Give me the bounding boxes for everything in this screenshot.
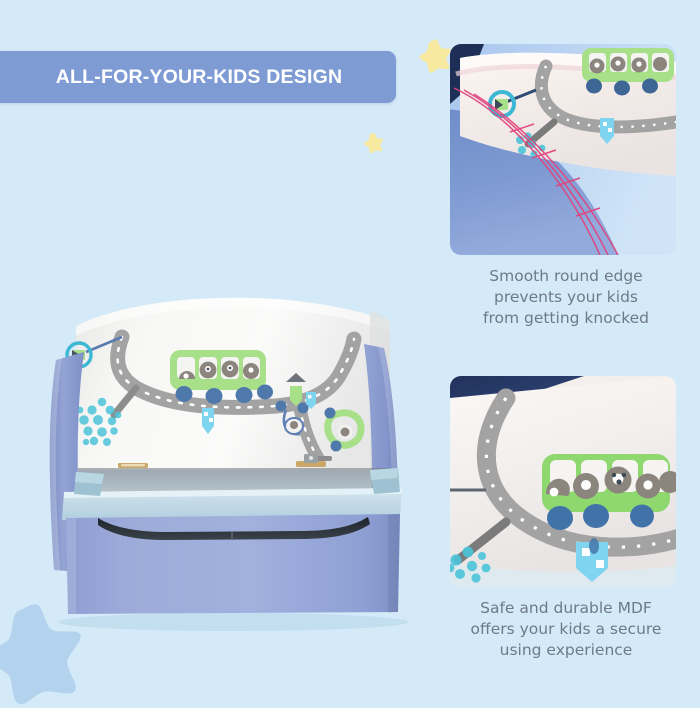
detail-card-smooth-round-edge: Smooth round edge prevents your kids fro… — [450, 44, 682, 329]
detail-caption-smooth-round-edge: Smooth round edge prevents your kids fro… — [450, 266, 682, 329]
caption-line: from getting knocked — [450, 308, 682, 329]
product-photo-toy-box-bench — [18, 240, 438, 640]
star-decoration-mid-right — [363, 132, 385, 154]
caption-line: using experience — [450, 640, 682, 661]
detail-card-safe-durable-mdf: Safe and durable MDF offers your kids a … — [450, 376, 682, 661]
star-decoration-top-right — [418, 38, 454, 74]
detail-photo-safe-durable-mdf — [450, 376, 676, 587]
caption-line: offers your kids a secure — [450, 619, 682, 640]
caption-line: Smooth round edge — [450, 266, 682, 287]
caption-line: Safe and durable MDF — [450, 598, 682, 619]
headline-text: ALL-FOR-YOUR-KIDS DESIGN — [40, 66, 342, 89]
detail-photo-smooth-round-edge — [450, 44, 676, 255]
detail-caption-safe-durable-mdf: Safe and durable MDF offers your kids a … — [450, 598, 682, 661]
headline-banner: ALL-FOR-YOUR-KIDS DESIGN — [0, 51, 396, 103]
caption-line: prevents your kids — [450, 287, 682, 308]
